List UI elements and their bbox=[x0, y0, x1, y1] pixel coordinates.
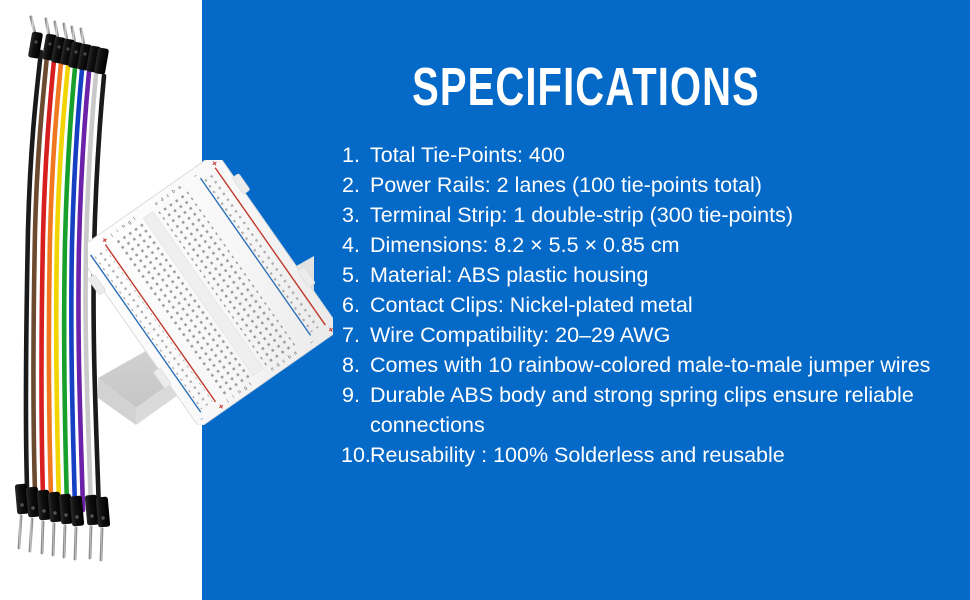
list-item-number: 9. bbox=[342, 380, 370, 410]
list-item-text: Material: ABS plastic housing bbox=[370, 263, 648, 287]
product-infographic: SPECIFICATIONS 1. Total Tie-Points: 400 … bbox=[0, 0, 970, 600]
list-item-text: Durable ABS body and strong spring clips… bbox=[370, 383, 914, 437]
list-item: 7. Wire Compatibility: 20–29 AWG bbox=[342, 320, 942, 350]
list-item: 3. Terminal Strip: 1 double-strip (300 t… bbox=[342, 200, 942, 230]
list-item-text: Power Rails: 2 lanes (100 tie-points tot… bbox=[370, 173, 762, 197]
list-item: 5. Material: ABS plastic housing bbox=[342, 260, 942, 290]
list-item-number: 10. bbox=[341, 440, 369, 470]
list-item: 10. Reusability : 100% Solderless and re… bbox=[342, 440, 942, 470]
list-item-text: Contact Clips: Nickel-plated metal bbox=[370, 293, 693, 317]
list-item-text: Terminal Strip: 1 double-strip (300 tie-… bbox=[370, 203, 793, 227]
list-item: 4. Dimensions: 8.2 × 5.5 × 0.85 cm bbox=[342, 230, 942, 260]
list-item-number: 2. bbox=[342, 170, 370, 200]
list-item: 1. Total Tie-Points: 400 bbox=[342, 140, 942, 170]
list-item-number: 7. bbox=[342, 320, 370, 350]
list-item: 8. Comes with 10 rainbow-colored male-to… bbox=[342, 350, 942, 380]
list-item-text: Wire Compatibility: 20–29 AWG bbox=[370, 323, 670, 347]
breadboard-image: − + − + jih gf jih gf bbox=[88, 160, 333, 425]
list-item-text: Dimensions: 8.2 × 5.5 × 0.85 cm bbox=[370, 233, 680, 257]
list-item-number: 6. bbox=[342, 290, 370, 320]
list-item-number: 4. bbox=[342, 230, 370, 260]
list-item-number: 1. bbox=[342, 140, 370, 170]
list-item-text: Comes with 10 rainbow-colored male-to-ma… bbox=[370, 353, 930, 377]
list-item: 9. Durable ABS body and strong spring cl… bbox=[342, 380, 942, 440]
list-item-text: Reusability : 100% Solderless and reusab… bbox=[370, 443, 785, 467]
bottom-connector-headers bbox=[15, 484, 111, 528]
specifications-list: 1. Total Tie-Points: 400 2. Power Rails:… bbox=[342, 140, 942, 470]
list-item: 2. Power Rails: 2 lanes (100 tie-points … bbox=[342, 170, 942, 200]
list-item-text: Total Tie-Points: 400 bbox=[370, 143, 565, 167]
list-item: 6. Contact Clips: Nickel-plated metal bbox=[342, 290, 942, 320]
list-item-number: 8. bbox=[342, 350, 370, 380]
list-item-number: 5. bbox=[342, 260, 370, 290]
list-item-number: 3. bbox=[342, 200, 370, 230]
page-title: SPECIFICATIONS bbox=[302, 58, 870, 116]
